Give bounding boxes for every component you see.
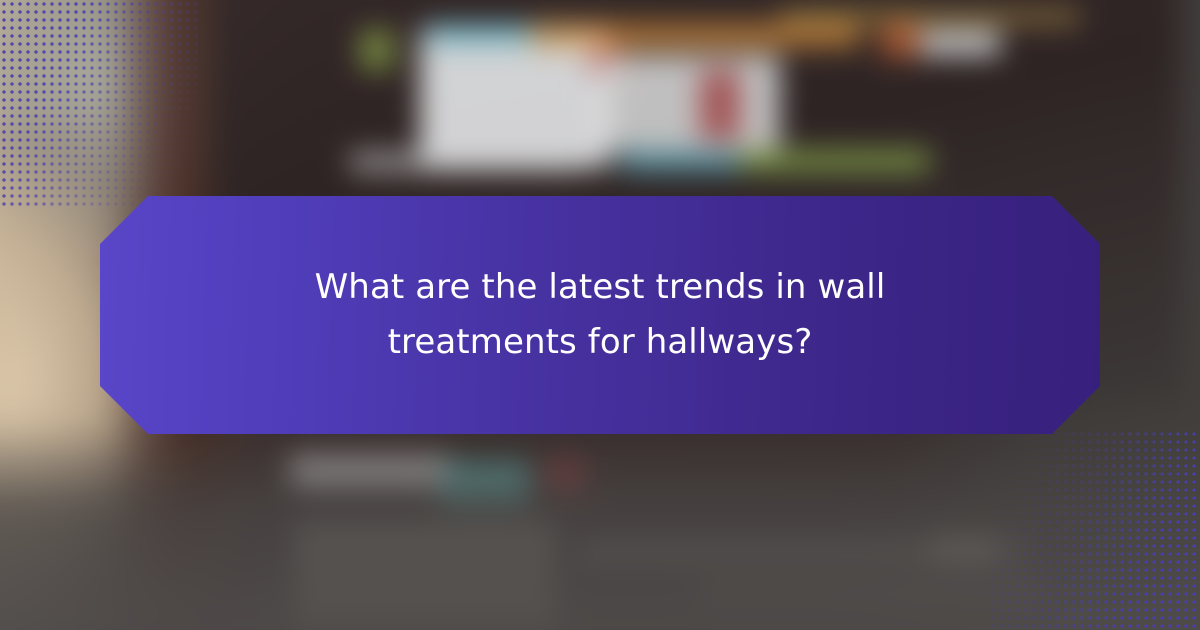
blob-red-mark-b — [700, 70, 740, 140]
title-banner: What are the latest trends in wall treat… — [100, 196, 1100, 434]
blob-white-blob — [600, 55, 780, 150]
blob-white-panel — [420, 28, 610, 168]
share-card: What are the latest trends in wall treat… — [0, 0, 1200, 630]
blob-white-tab — [920, 30, 1000, 56]
blob-gold-line — [780, 10, 1080, 24]
page-title: What are the latest trends in wall treat… — [205, 260, 995, 370]
blob-orange-row — [530, 22, 860, 48]
blob-cyan-row — [620, 150, 740, 172]
blob-orange-tab — [880, 24, 920, 58]
blob-green-chip — [360, 30, 394, 70]
blob-grey-row — [350, 152, 580, 172]
background-bottom-grey — [0, 420, 1200, 630]
blob-green-row — [740, 150, 930, 172]
